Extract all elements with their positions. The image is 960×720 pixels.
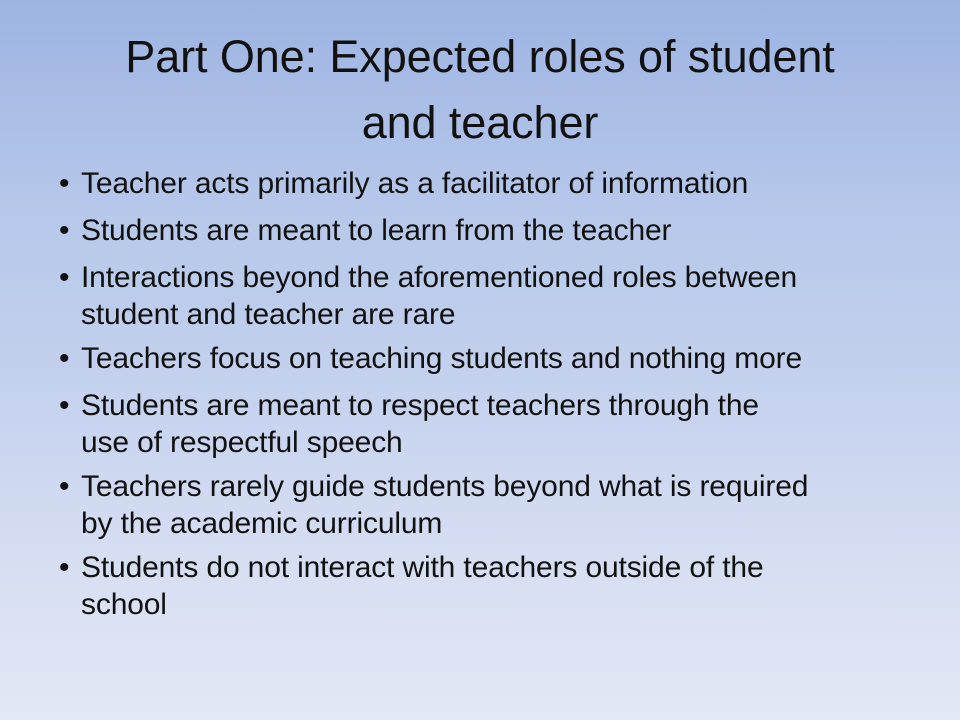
slide-title-line-2: and teacher [30,90,930,156]
bullet-point-icon: • [50,163,81,205]
bullet-point-icon: • [50,210,81,252]
list-item: • Students are meant to learn from the t… [50,210,922,252]
list-item-text: Interactions beyond the aforementioned r… [81,257,922,333]
list-item-line-2: by the academic curriculum [81,505,922,542]
list-item: • Teachers rarely guide students beyond … [50,466,922,542]
bullet-point-icon: • [50,547,81,589]
list-item-line-2: student and teacher are rare [81,296,922,333]
list-item-line-1: Teachers focus on teaching students and … [81,342,802,375]
bullet-point-icon: • [50,385,81,427]
list-item-line-1: Teachers rarely guide students beyond wh… [81,470,808,503]
bullet-point-icon: • [50,257,81,299]
list-item-text: Students are meant to learn from the tea… [81,210,922,249]
presentation-slide: Part One: Expected roles of student and … [0,0,960,720]
list-item-line-1: Teacher acts primarily as a facilitator … [81,167,748,200]
list-item-line-2: school [81,586,922,623]
list-item-text: Teachers rarely guide students beyond wh… [81,466,922,542]
list-item-line-1: Interactions beyond the aforementioned r… [81,261,797,294]
list-item: • Students do not interact with teachers… [50,547,922,623]
list-item: • Interactions beyond the aforementioned… [50,257,922,333]
list-item-line-2: use of respectful speech [81,424,922,461]
bullet-point-icon: • [50,338,81,380]
slide-title-line-1: Part One: Expected roles of student [30,24,930,90]
list-item: • Teacher acts primarily as a facilitato… [50,163,922,205]
list-item-line-1: Students are meant to respect teachers t… [81,389,759,422]
bullet-point-icon: • [50,466,81,508]
list-item: • Teachers focus on teaching students an… [50,338,922,380]
list-item: • Students are meant to respect teachers… [50,385,922,461]
list-item-text: Teachers focus on teaching students and … [81,338,922,377]
slide-title: Part One: Expected roles of student and … [0,24,960,156]
list-item-line-1: Students do not interact with teachers o… [81,551,763,584]
list-item-text: Teacher acts primarily as a facilitator … [81,163,922,202]
list-item-line-1: Students are meant to learn from the tea… [81,214,671,247]
list-item-text: Students do not interact with teachers o… [81,547,922,623]
list-item-text: Students are meant to respect teachers t… [81,385,922,461]
bullet-list: • Teacher acts primarily as a facilitato… [50,163,922,628]
